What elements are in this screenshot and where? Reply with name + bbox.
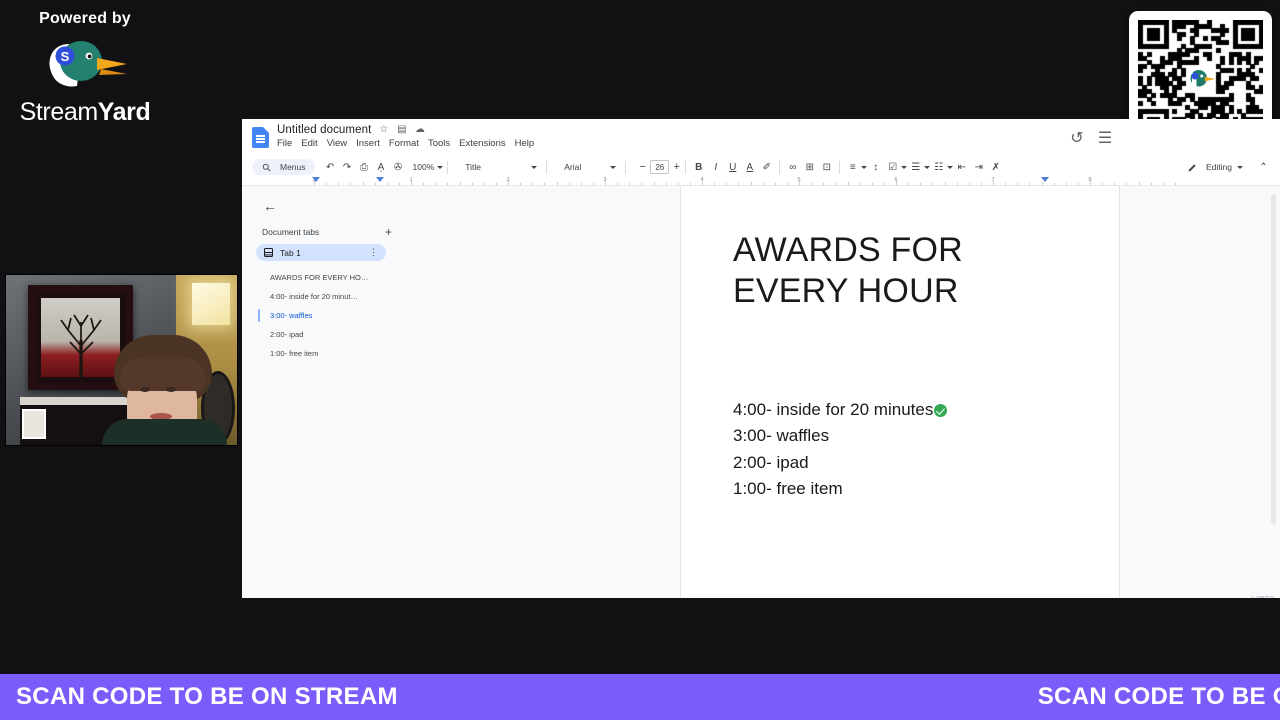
toolbar-divider — [625, 161, 626, 174]
docs-menu-bar: File Edit View Insert Format Tools Exten… — [277, 138, 534, 149]
search-menus-label: Menus — [280, 162, 306, 172]
menu-extensions[interactable]: Extensions — [459, 138, 505, 149]
document-tabs-label: Document tabs — [262, 227, 319, 237]
awards-list: 4:00- inside for 20 minutes 3:00- waffle… — [733, 397, 1067, 502]
print-button[interactable]: ⎙ — [356, 159, 373, 175]
menu-help[interactable]: Help — [515, 138, 535, 149]
chevron-down-icon — [531, 166, 537, 169]
scan-code-banner: SCAN CODE TO BE ON STREAM SCAN CODE TO B… — [0, 674, 1280, 720]
toolbar-divider — [447, 161, 448, 174]
line-spacing-button[interactable]: ↕ — [867, 159, 884, 175]
underline-button[interactable]: U — [724, 159, 741, 175]
list-item-text: 3:00- waffles — [733, 423, 829, 449]
comment-history-icon[interactable]: ☰ — [1098, 131, 1112, 145]
duck-logo-icon — [1186, 68, 1216, 90]
increase-indent-button[interactable]: ⇥ — [970, 159, 987, 175]
streamyard-wordmark: StreamYard — [0, 98, 170, 127]
powered-by-label: Powered by — [0, 10, 170, 28]
pencil-icon — [1184, 159, 1201, 175]
chevron-down-icon — [437, 166, 443, 169]
scan-code-text: SCAN CODE TO BE ON STREAM — [1038, 683, 1280, 711]
google-docs-icon — [252, 127, 269, 148]
brand-name-light: Stream — [20, 98, 98, 126]
document-page-area: AWARDS FOR EVERY HOUR 4:00- inside for 2… — [520, 186, 1280, 598]
checklist-button[interactable]: ☑ — [884, 159, 901, 175]
outline-item[interactable]: 1:00- free item — [270, 344, 520, 363]
docs-toolbar: Menus ↶ ↷ ⎙ A̦ ✇ 100% Title Arial — [242, 157, 1280, 177]
undo-button[interactable]: ↶ — [322, 159, 339, 175]
italic-button[interactable]: I — [707, 159, 724, 175]
search-menus-button[interactable]: Menus — [252, 159, 315, 175]
docs-body: ← Document tabs + Tab 1 ⋮ AWARDS FOR EVE… — [242, 186, 1280, 598]
font-size-increase-button[interactable]: + — [672, 161, 681, 173]
outline-item[interactable]: 3:00- waffles — [270, 306, 520, 325]
toolbar-divider — [546, 161, 547, 174]
highlight-color-button[interactable]: ✐ — [758, 159, 775, 175]
insert-link-button[interactable]: ∞ — [784, 159, 801, 175]
document-page[interactable]: AWARDS FOR EVERY HOUR 4:00- inside for 2… — [681, 186, 1119, 598]
brand-name-bold: Yard — [98, 98, 151, 126]
paragraph-style-selector[interactable]: Title — [460, 159, 542, 175]
photo-frame — [22, 409, 46, 439]
tab-options-icon[interactable]: ⋮ — [369, 248, 378, 257]
editing-mode-label: Editing — [1206, 162, 1232, 172]
duck-logo-icon: S — [39, 34, 131, 96]
list-item-text: 2:00- ipad — [733, 450, 809, 476]
move-to-folder-icon[interactable]: ▤ — [396, 125, 407, 136]
menu-format[interactable]: Format — [389, 138, 419, 149]
list-item: 4:00- inside for 20 minutes — [733, 397, 1067, 423]
add-tab-button[interactable]: + — [385, 226, 392, 238]
insert-image-button[interactable]: ⊡ — [818, 159, 835, 175]
collapse-toolbar-button[interactable]: ⌃ — [1255, 159, 1272, 175]
list-item-text: 1:00- free item — [733, 476, 843, 502]
cloud-saved-icon[interactable]: ☁ — [414, 125, 425, 136]
numbered-list-button[interactable]: ☷ — [930, 159, 947, 175]
toolbar-divider — [779, 161, 780, 174]
menu-tools[interactable]: Tools — [428, 138, 450, 149]
paragraph-style-value: Title — [465, 162, 481, 172]
svg-text:S: S — [61, 49, 70, 64]
shirt — [102, 419, 227, 445]
eye-right — [166, 387, 176, 392]
font-size-decrease-button[interactable]: − — [638, 161, 647, 173]
outline-item[interactable]: 2:00- ipad — [270, 325, 520, 344]
page-title-line-1: AWARDS FOR — [733, 230, 1067, 271]
add-comment-button[interactable]: ⊞ — [801, 159, 818, 175]
document-tabs-header: Document tabs + — [262, 226, 392, 238]
version-history-icon[interactable]: ↺ — [1070, 131, 1084, 145]
zoom-selector[interactable]: 100% — [413, 162, 444, 172]
artwork-canvas — [41, 298, 120, 377]
align-button[interactable]: ≡ — [844, 159, 861, 175]
toolbar-divider — [839, 161, 840, 174]
streamyard-branding: Powered by S StreamYard — [0, 10, 170, 127]
document-title[interactable]: Untitled document — [277, 124, 371, 136]
zoom-value: 100% — [413, 162, 435, 172]
chevron-down-icon — [610, 166, 616, 169]
redo-button[interactable]: ↷ — [339, 159, 356, 175]
paint-format-button[interactable]: ✇ — [390, 159, 407, 175]
clear-formatting-button[interactable]: ✗ — [987, 159, 1004, 175]
font-family-value: Arial — [564, 162, 581, 172]
tree-illustration — [50, 306, 112, 378]
list-item-text: 4:00- inside for 20 minutes — [733, 397, 933, 423]
outline-item[interactable]: AWARDS FOR EVERY HO… — [270, 268, 520, 287]
document-tabs-sidebar: ← Document tabs + Tab 1 ⋮ AWARDS FOR EVE… — [242, 186, 520, 598]
font-family-selector[interactable]: Arial — [559, 159, 621, 175]
star-icon[interactable]: ☆ — [378, 125, 389, 136]
scan-code-text: SCAN CODE TO BE ON STREAM — [16, 683, 398, 711]
horizontal-ruler[interactable]: 112345678 — [242, 177, 1280, 186]
bulleted-list-button[interactable]: ☰ — [907, 159, 924, 175]
tab-grid-icon — [264, 248, 273, 257]
tab-label: Tab 1 — [280, 248, 362, 258]
decrease-indent-button[interactable]: ⇤ — [953, 159, 970, 175]
page-title-line-2: EVERY HOUR — [733, 271, 1067, 312]
bold-button[interactable]: B — [690, 159, 707, 175]
spellcheck-button[interactable]: A̦ — [373, 159, 390, 175]
menu-edit[interactable]: Edit — [301, 138, 317, 149]
editing-mode-button[interactable]: Editing — [1179, 157, 1248, 177]
chevron-down-icon — [1237, 166, 1243, 169]
sidebar-item-tab-1[interactable]: Tab 1 ⋮ — [256, 244, 386, 261]
menu-file[interactable]: File — [277, 138, 292, 149]
google-docs-window[interactable]: Untitled document ☆ ▤ ☁ File Edit View I… — [242, 119, 1280, 598]
checkmark-icon — [934, 404, 947, 417]
list-item: 2:00- ipad — [733, 450, 1067, 476]
list-item: 1:00- free item — [733, 476, 1067, 502]
list-item: 3:00- waffles — [733, 423, 1067, 449]
menu-insert[interactable]: Insert — [356, 138, 380, 149]
search-icon — [258, 159, 275, 175]
bangs — [120, 357, 206, 391]
outline-item[interactable]: 4:00- inside for 20 minut… — [270, 287, 520, 306]
toolbar-divider — [685, 161, 686, 174]
window-light — [192, 283, 230, 325]
scroll-down-icon[interactable]: \u25C0 — [1251, 596, 1274, 598]
text-color-button[interactable]: A — [741, 159, 758, 175]
docs-title-bar: Untitled document ☆ ▤ ☁ File Edit View I… — [242, 119, 1280, 157]
menu-view[interactable]: View — [327, 138, 347, 149]
back-button[interactable]: ← — [260, 196, 280, 216]
font-size-stepper[interactable]: − 26 + — [638, 160, 681, 174]
vertical-scrollbar[interactable] — [1271, 194, 1276, 524]
font-size-input[interactable]: 26 — [650, 160, 669, 174]
webcam-feed — [6, 275, 237, 445]
stream-overlay-stage: Powered by S StreamYard — [0, 0, 1280, 720]
eye-left — [140, 387, 150, 392]
document-outline: AWARDS FOR EVERY HO… 4:00- inside for 20… — [256, 268, 520, 363]
